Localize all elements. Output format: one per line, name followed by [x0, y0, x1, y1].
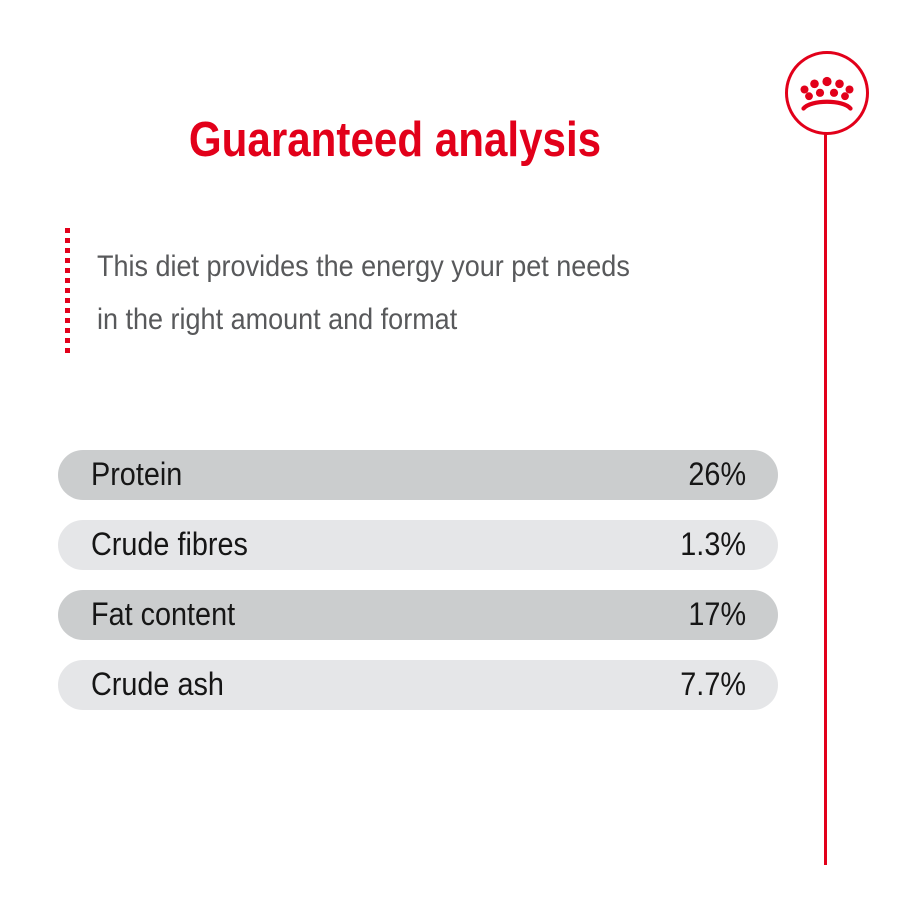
crown-icon — [801, 77, 854, 109]
table-row: Fat content 17% — [58, 590, 778, 640]
royal-canin-crown-logo — [784, 50, 870, 136]
nutrient-value: 26% — [688, 457, 746, 491]
nutrient-label: Crude ash — [91, 667, 224, 701]
nutrient-label: Crude fibres — [91, 527, 248, 561]
intro-text: This diet provides the energy your pet n… — [97, 240, 691, 346]
table-row: Crude ash 7.7% — [58, 660, 778, 710]
intro-block: This diet provides the energy your pet n… — [58, 226, 758, 356]
guaranteed-analysis-panel: Guaranteed analysis This diet provides t… — [0, 0, 900, 900]
dotted-accent-rule — [65, 228, 70, 354]
nutrient-label: Fat content — [91, 597, 235, 631]
table-row: Protein 26% — [58, 450, 778, 500]
nutrient-label: Protein — [91, 457, 182, 491]
intro-line-1: This diet provides the energy your pet n… — [97, 240, 691, 293]
page-title: Guaranteed analysis — [55, 111, 734, 169]
nutrient-value: 7.7% — [680, 667, 746, 701]
brand-vertical-rule — [824, 133, 827, 865]
nutrient-value: 17% — [688, 597, 746, 631]
table-row: Crude fibres 1.3% — [58, 520, 778, 570]
nutrient-value: 1.3% — [680, 527, 746, 561]
intro-line-2: in the right amount and format — [97, 293, 691, 346]
analysis-table: Protein 26% Crude fibres 1.3% Fat conten… — [58, 450, 778, 730]
